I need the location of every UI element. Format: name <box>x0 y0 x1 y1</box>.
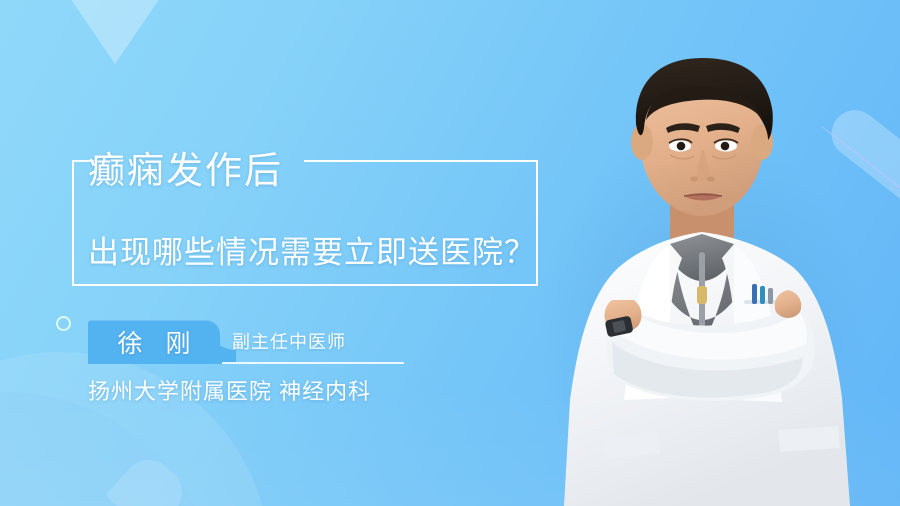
frame-left-border <box>72 160 74 286</box>
triangle-decoration <box>70 0 160 64</box>
title-underline <box>222 362 404 364</box>
ring-decoration <box>56 316 71 331</box>
hospital-department: 扬州大学附属医院 神经内科 <box>88 374 371 406</box>
doctor-name: 徐 刚 <box>88 320 220 364</box>
doctor-portrait <box>520 0 900 506</box>
frame-bottom-border <box>72 284 538 286</box>
title-line-2: 出现哪些情况需要立即送医院？ <box>88 230 558 276</box>
thumbnail-canvas: 癫痫发作后 出现哪些情况需要立即送医院？ 徐 刚 副主任中医师 扬州大学附属医院… <box>0 0 900 506</box>
blob-decoration <box>105 449 193 506</box>
doctor-title: 副主任中医师 <box>232 328 346 354</box>
title-block: 癫痫发作后 出现哪些情况需要立即送医院？ <box>88 146 558 276</box>
arc-decoration-secondary <box>0 392 220 506</box>
title-line-1: 癫痫发作后 <box>88 146 558 196</box>
